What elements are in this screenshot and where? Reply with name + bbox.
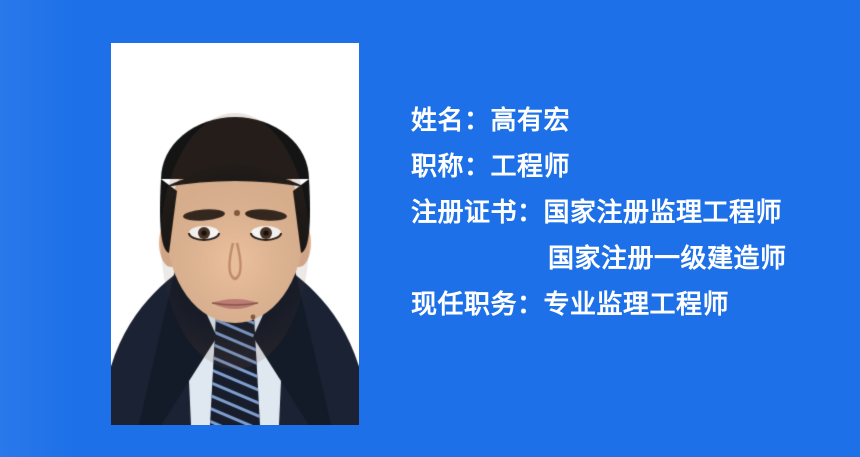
portrait-photo (111, 43, 359, 425)
info-block: 姓名：高有宏 职称：工程师 注册证书：国家注册监理工程师 国家注册一级建造师 现… (411, 98, 831, 328)
background-sheen (0, 0, 120, 457)
info-line-certificates-continued: 国家注册一级建造师 (411, 236, 831, 282)
info-line-name: 姓名：高有宏 (411, 98, 831, 144)
info-line-certificates: 注册证书：国家注册监理工程师 (411, 190, 831, 236)
info-line-title: 职称：工程师 (411, 144, 831, 190)
info-line-position: 现任职务：专业监理工程师 (411, 282, 831, 328)
portrait-photo-image (111, 43, 359, 425)
profile-card: 姓名：高有宏 职称：工程师 注册证书：国家注册监理工程师 国家注册一级建造师 现… (0, 0, 860, 457)
